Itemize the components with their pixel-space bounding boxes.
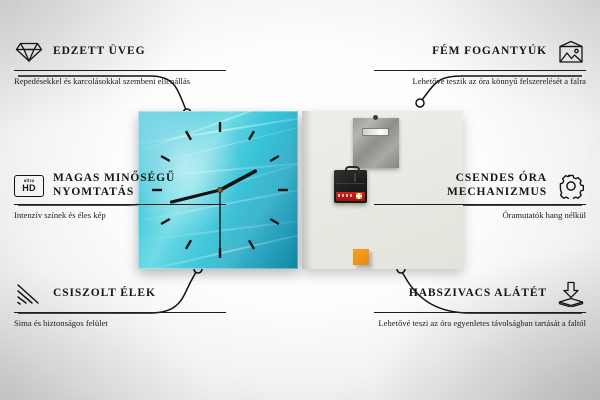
callout-description: Sima és biztonságos felület [14, 317, 226, 329]
callout-title: EDZETT ÜVEG [53, 45, 145, 59]
callout-description: Lehetővé teszik az óra könnyű felszerelé… [374, 75, 586, 87]
callout-description: Lehetővé teszi az óra egyenletes távolsá… [374, 317, 586, 329]
callout-divider [14, 312, 226, 313]
callout-header: CSISZOLT ÉLEK [14, 280, 226, 308]
callout-title: CSISZOLT ÉLEK [53, 287, 156, 301]
hanger-keyhole-slot [362, 128, 389, 136]
callout-header: CSENDES ÓRA MECHANIZMUS [374, 172, 586, 200]
foam-pad [353, 249, 369, 265]
mechanism-slot [354, 173, 356, 182]
callout-divider [374, 204, 586, 205]
callout-header: ultra HD MAGAS MINŐSÉGŰ NYOMTATÁS [14, 172, 226, 200]
callout-divider [14, 204, 226, 205]
clock-tick [186, 240, 191, 249]
back-panel-edge-shadow [302, 111, 312, 269]
callout-csendes-ora-mechanizmus: CSENDES ÓRA MECHANIZMUS Óramutatók hang … [374, 172, 586, 221]
badge-text-hd: HD [22, 184, 35, 193]
callout-header: EDZETT ÜVEG [14, 38, 226, 66]
callout-header: FÉM FOGANTYÚK [374, 38, 586, 66]
callout-divider [374, 70, 586, 71]
callout-habszivacs-alatet: HABSZIVACS ALÁTÉT Lehetővé teszi az óra … [374, 280, 586, 329]
clock-tick [161, 156, 170, 161]
battery [336, 192, 365, 201]
polished-edges-icon [14, 280, 44, 308]
callout-description: Repedésekkel és karcolásokkal szembeni e… [14, 75, 226, 87]
wall-mount-frame-icon [556, 38, 586, 66]
mechanism-hanger-loop [345, 166, 360, 174]
callout-description: Óramutatók hang nélkül [374, 209, 586, 221]
gear-icon [556, 172, 586, 200]
clock-tick [270, 219, 279, 224]
clock-tick [249, 131, 254, 140]
metal-hanger [353, 118, 399, 168]
callout-divider [14, 70, 226, 71]
diamond-icon [14, 38, 44, 66]
callout-title: HABSZIVACS ALÁTÉT [409, 287, 547, 301]
clock-tick [186, 131, 191, 140]
callout-header: HABSZIVACS ALÁTÉT [374, 280, 586, 308]
callout-title: MAGAS MINŐSÉGŰ NYOMTATÁS [53, 172, 226, 199]
battery-label-stripes [338, 194, 354, 197]
callout-title: CSENDES ÓRA MECHANIZMUS [374, 172, 547, 199]
callout-divider [374, 312, 586, 313]
callout-title: FÉM FOGANTYÚK [432, 45, 547, 59]
connector-endpoint-fem-fogantyuk [416, 99, 424, 107]
hanger-screw-dot [373, 115, 378, 120]
infographic-canvas: EDZETT ÜVEG Repedésekkel és karcolásokka… [0, 0, 600, 400]
callout-description: Intenzív színek és éles kép [14, 209, 226, 221]
clock-tick [270, 156, 279, 161]
callout-edzett-uveg: EDZETT ÜVEG Repedésekkel és karcolásokka… [14, 38, 226, 87]
ultra-hd-badge-icon: ultra HD [14, 172, 44, 200]
callout-fem-fogantyuk: FÉM FOGANTYÚK Lehetővé teszik az óra kön… [374, 38, 586, 87]
callout-csiszolt-elek: CSISZOLT ÉLEK Sima és biztonságos felüle… [14, 280, 226, 329]
foam-pad-arrow-icon [556, 280, 586, 308]
clock-mechanism [334, 170, 367, 203]
callout-magas-minosegu-nyomtatas: ultra HD MAGAS MINŐSÉGŰ NYOMTATÁS Intenz… [14, 172, 226, 221]
mechanism-seam [336, 183, 365, 184]
clock-tick [249, 240, 254, 249]
battery-plus-terminal [356, 193, 362, 199]
